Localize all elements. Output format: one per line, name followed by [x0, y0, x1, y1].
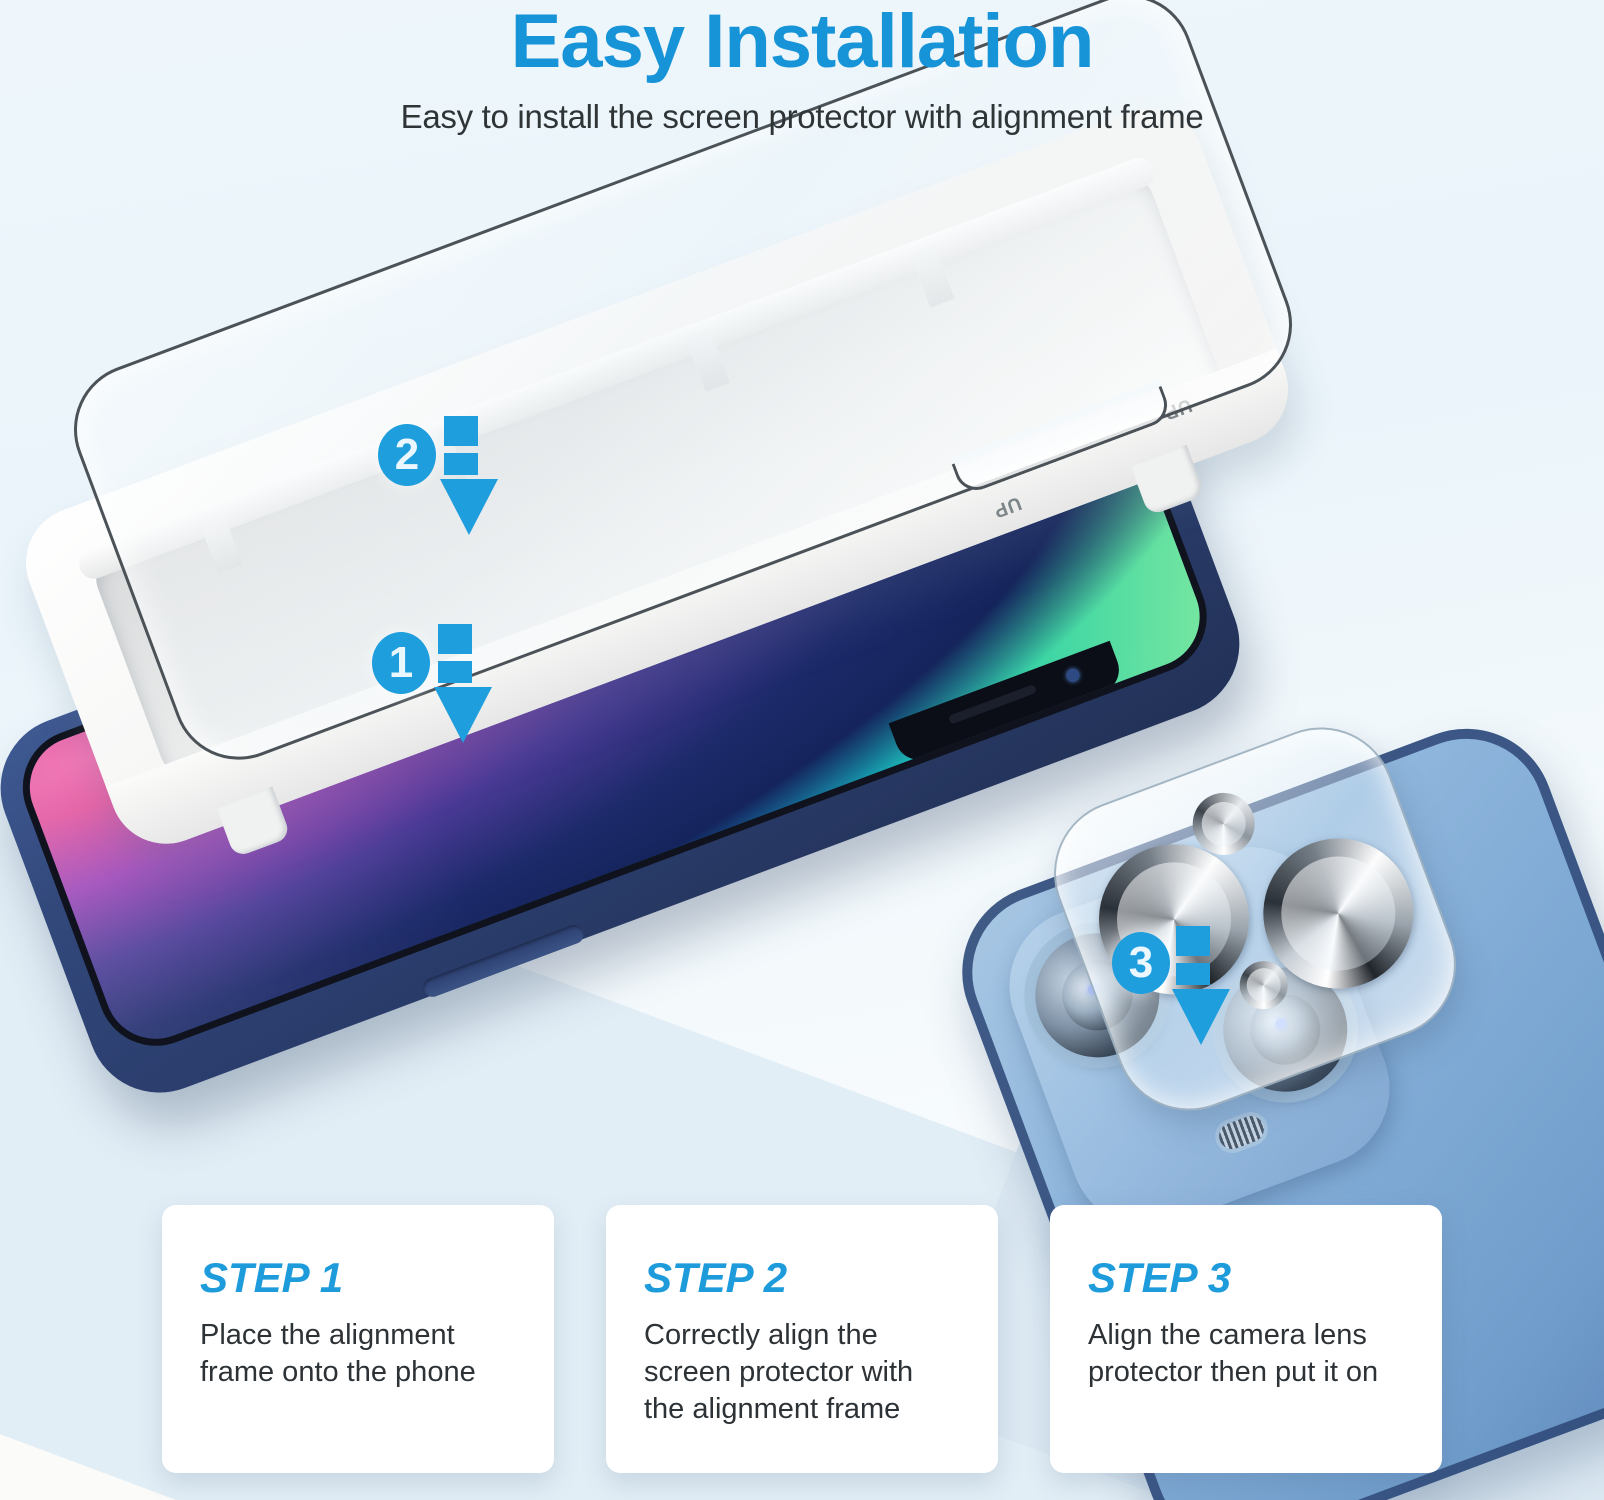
step-card-2: STEP 2 Correctly align the screen protec…: [606, 1205, 998, 1473]
step-cards-row: STEP 1 Place the alignment frame onto th…: [0, 1205, 1604, 1495]
step-card-text: Place the alignment frame onto the phone: [200, 1317, 520, 1391]
arrow-head: [434, 687, 492, 743]
arrow-head: [440, 479, 498, 535]
microphone-grid-icon: [1215, 1112, 1267, 1152]
flash-ring-inner: [1195, 795, 1252, 852]
step-badge-1: 1: [372, 632, 430, 694]
front-camera-icon: [1065, 667, 1082, 684]
step-1-arrow-icon: [434, 624, 476, 743]
arrow-dash: [438, 661, 472, 683]
step-1-indicator: 1: [372, 632, 430, 694]
step-card-text: Align the camera lens protector then put…: [1088, 1317, 1408, 1391]
step-badge-3: 3: [1112, 932, 1170, 994]
header: Easy Installation Easy to install the sc…: [0, 0, 1604, 136]
step-card-title: STEP 3: [1088, 1257, 1408, 1299]
arrow-dash: [1176, 926, 1210, 956]
step-card-title: STEP 2: [644, 1257, 964, 1299]
step-card-1: STEP 1 Place the alignment frame onto th…: [162, 1205, 554, 1473]
infographic-canvas: Easy Installation Easy to install the sc…: [0, 0, 1604, 1500]
step-card-title: STEP 1: [200, 1257, 520, 1299]
page-title: Easy Installation: [0, 4, 1604, 80]
step-2-arrow-icon: [440, 416, 482, 535]
step-3-arrow-icon: [1172, 926, 1214, 1045]
step-card-text: Correctly align the screen protector wit…: [644, 1317, 964, 1428]
arrow-dash: [1176, 963, 1210, 985]
lens-protector-ring-inner: [1265, 840, 1412, 987]
mic-ring-inner: [1241, 963, 1285, 1007]
arrow-dash: [444, 416, 478, 446]
arrow-dash: [444, 453, 478, 475]
step-card-3: STEP 3 Align the camera lens protector t…: [1050, 1205, 1442, 1473]
step-3-indicator: 3: [1112, 932, 1170, 994]
arrow-head: [1172, 989, 1230, 1045]
page-subtitle: Easy to install the screen protector wit…: [0, 98, 1604, 136]
step-badge-2: 2: [378, 424, 436, 486]
arrow-dash: [438, 624, 472, 654]
step-2-indicator: 2: [378, 424, 436, 486]
